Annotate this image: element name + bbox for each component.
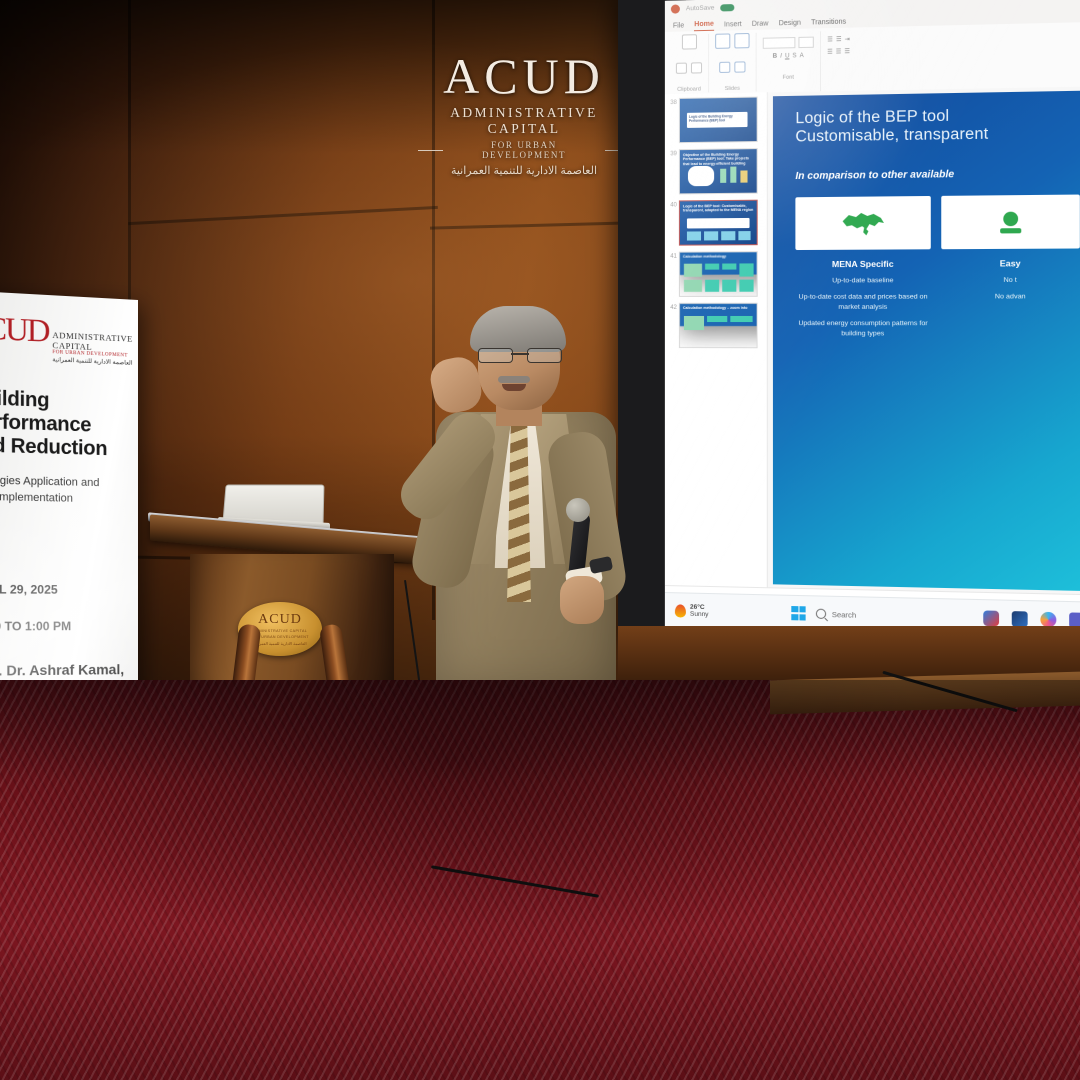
slide-thumbnail-39[interactable]: Objective of the Building Energy Perform… [679,148,758,194]
banner-title: Building Performance and Reduction [0,386,124,461]
font-size-box[interactable] [798,37,813,49]
section-icon[interactable] [734,61,745,72]
ribbon-group-paragraph[interactable]: ☰☰⇥ ☰☰☰ [821,31,856,96]
column-heading: MENA Specific [795,259,930,270]
powerpoint-window: AutoSave ▫ ▫ ✕ File Home Insert Draw Des… [665,0,1080,638]
acud-tagline-primary: ADMINISTRATIVE CAPITAL [418,105,630,137]
thumbnail-title: Objective of the Building Energy Perform… [683,152,754,166]
thumbnail-item[interactable]: 39 Objective of the Building Energy Perf… [667,148,764,195]
autosave-toggle[interactable] [720,4,734,11]
layout-icon[interactable] [734,33,749,48]
presenter-hand-right [560,576,604,624]
tab-home[interactable]: Home [694,21,714,32]
current-slide[interactable]: Logic of the BEP tool Customisable, tran… [773,91,1080,592]
tab-insert[interactable]: Insert [724,21,742,31]
indent-icon[interactable]: ⇥ [845,36,850,43]
column-bullet: No advan [941,292,1080,302]
column-bullet: Up-to-date cost data and prices based on… [795,293,930,312]
paste-icon[interactable] [681,34,696,49]
search-icon [816,609,826,619]
arabic-app-icon[interactable] [983,610,999,626]
thumbnail-title: Logic of the Building Energy Performance… [689,114,749,123]
ribbon-toolbar[interactable]: Clipboard Slides BIUSA Font ☰☰⇥ ☰☰☰ [665,22,1080,98]
reset-icon[interactable] [719,62,730,73]
underline-icon[interactable]: U [785,53,789,59]
acud-arabic-tagline: العاصمة الادارية للتنمية العمرانية [418,164,630,177]
slide-thumbnail-42[interactable]: Calculation methodology – zoom into [679,303,758,349]
presenter-mouth [502,384,526,391]
slide-editing-canvas[interactable]: Logic of the BEP tool Customisable, tran… [768,86,1080,595]
copilot-icon[interactable] [1040,611,1056,627]
autosave-label: AutoSave [686,4,714,12]
tab-design[interactable]: Design [779,20,801,30]
align-left-icon[interactable]: ☰ [827,48,833,55]
thumbnail-title: Calculation methodology [683,254,754,259]
thumbnail-item[interactable]: 38 Logic of the Building Energy Performa… [667,96,764,143]
ribbon-group-label: Font [783,75,794,81]
presenter-hand-left-gesturing [427,354,485,417]
banner-acud-logo: ACUD ADMINISTRATIVE CAPITAL FOR URBAN DE… [0,313,124,366]
slide-subtitle: In comparison to other available [795,169,954,182]
slide-title-line1: Logic of the BEP tool [795,107,949,127]
slide-number: 41 [667,252,677,260]
banner-speaker-name: Prof. Dr. Ashraf Kamal, [0,661,124,680]
ribbon-group-label: Clipboard [677,86,701,92]
slide-thumbnail-38[interactable]: Logic of the Building Energy Performance… [679,97,758,144]
ribbon-group-slides[interactable]: Slides [709,33,757,93]
numbering-icon[interactable]: ☰ [836,36,842,43]
presenter-hair [470,306,566,352]
podium-emblem-arabic: العاصمة الادارية للتنمية العمرانية [253,641,306,646]
column-bullet: No t [941,275,1080,285]
mena-map-icon [839,209,887,238]
slide-column-mena: MENA Specific Up-to-date baseline Up-to-… [795,196,930,338]
slide-thumbnail-40-selected[interactable]: Logic of the BEP tool: Customisable, tra… [679,200,758,246]
acud-tagline-secondary: FOR URBAN DEVELOPMENT [449,140,598,160]
thumbnail-title: Calculation methodology – zoom into [683,306,754,311]
slide-title-line2: Customisable, transparent [795,124,1077,147]
slide-comparison-columns: MENA Specific Up-to-date baseline Up-to-… [795,195,1079,339]
presenter-mustache [498,376,530,383]
align-right-icon[interactable]: ☰ [844,48,850,55]
font-name-box[interactable] [763,37,796,49]
slide-number: 38 [667,98,677,106]
powerpoint-app-icon [671,4,680,13]
ribbon-group-clipboard[interactable]: Clipboard [670,34,709,93]
bullets-icon[interactable]: ☰ [827,36,833,43]
podium-emblem-line1: ADMINISTRATIVE CAPITAL [253,629,307,633]
thumbnail-item[interactable]: 41 Calculation methodology [667,251,764,297]
cut-icon[interactable] [676,63,687,74]
tab-transitions[interactable]: Transitions [811,19,846,29]
banner-logo-mark: ACUD [0,313,48,345]
bold-icon[interactable]: B [773,54,777,60]
conference-presentation-photo: ACUD ADMINISTRATIVE CAPITAL FOR URBAN DE… [0,0,1080,1080]
copy-icon[interactable] [691,62,702,73]
shadow-icon[interactable]: A [800,53,804,59]
column-bullet: Up-to-date baseline [795,276,930,286]
italic-icon[interactable]: I [780,54,782,60]
column-heading: Easy [941,258,1080,269]
floor-shadow-overlay [0,680,1080,1080]
slide-number: 39 [667,149,677,157]
banner-date: APRIL 29, 2025 [0,582,124,597]
thumbnail-item[interactable]: 40 Logic of the BEP tool: Customisable, … [667,200,764,246]
strikethrough-icon[interactable]: S [792,53,796,59]
banner-time: 12:00 TO 1:00 PM [0,619,124,634]
easy-use-icon [989,207,1031,236]
chart-app-icon[interactable] [1012,611,1028,627]
acud-wall-logo: ACUD ADMINISTRATIVE CAPITAL FOR URBAN DE… [418,52,630,177]
weather-condition: Sunny [690,611,709,619]
window-controls[interactable]: ▫ ▫ ✕ [1074,0,1080,3]
microphone-head [566,498,590,522]
ribbon-group-label: Slides [725,86,740,92]
powerpoint-workspace: 38 Logic of the Building Energy Performa… [665,86,1080,595]
align-center-icon[interactable]: ☰ [836,48,842,55]
tab-file[interactable]: File [673,22,684,31]
search-placeholder: Search [832,609,856,619]
banner-subtitle: Strategies Application and EPC Implement… [0,473,124,508]
mena-map-image [795,196,930,250]
podium-emblem-mark: ACUD [258,613,302,627]
presenter-eyeglasses [478,348,562,361]
slide-number: 40 [667,200,677,208]
ribbon-group-font[interactable]: BIUSA Font [757,31,821,96]
taskbar-search[interactable]: Search [816,609,856,620]
tab-draw[interactable]: Draw [752,20,769,29]
start-icon[interactable] [792,606,806,621]
slide-column-easy: Easy No t No advan [941,195,1080,339]
slide-title: Logic of the BEP tool Customisable, tran… [795,105,1077,147]
column-bullet: Updated energy consumption patterns for … [795,319,930,338]
easy-use-image [941,195,1080,250]
new-slide-icon[interactable] [715,33,730,48]
slide-thumbnail-41[interactable]: Calculation methodology [679,251,758,297]
acud-wordmark: ACUD [418,52,630,100]
thumbnail-title: Logic of the BEP tool: Customisable, tra… [683,204,754,214]
display-panel: AutoSave ▫ ▫ ✕ File Home Insert Draw Des… [665,0,1080,638]
